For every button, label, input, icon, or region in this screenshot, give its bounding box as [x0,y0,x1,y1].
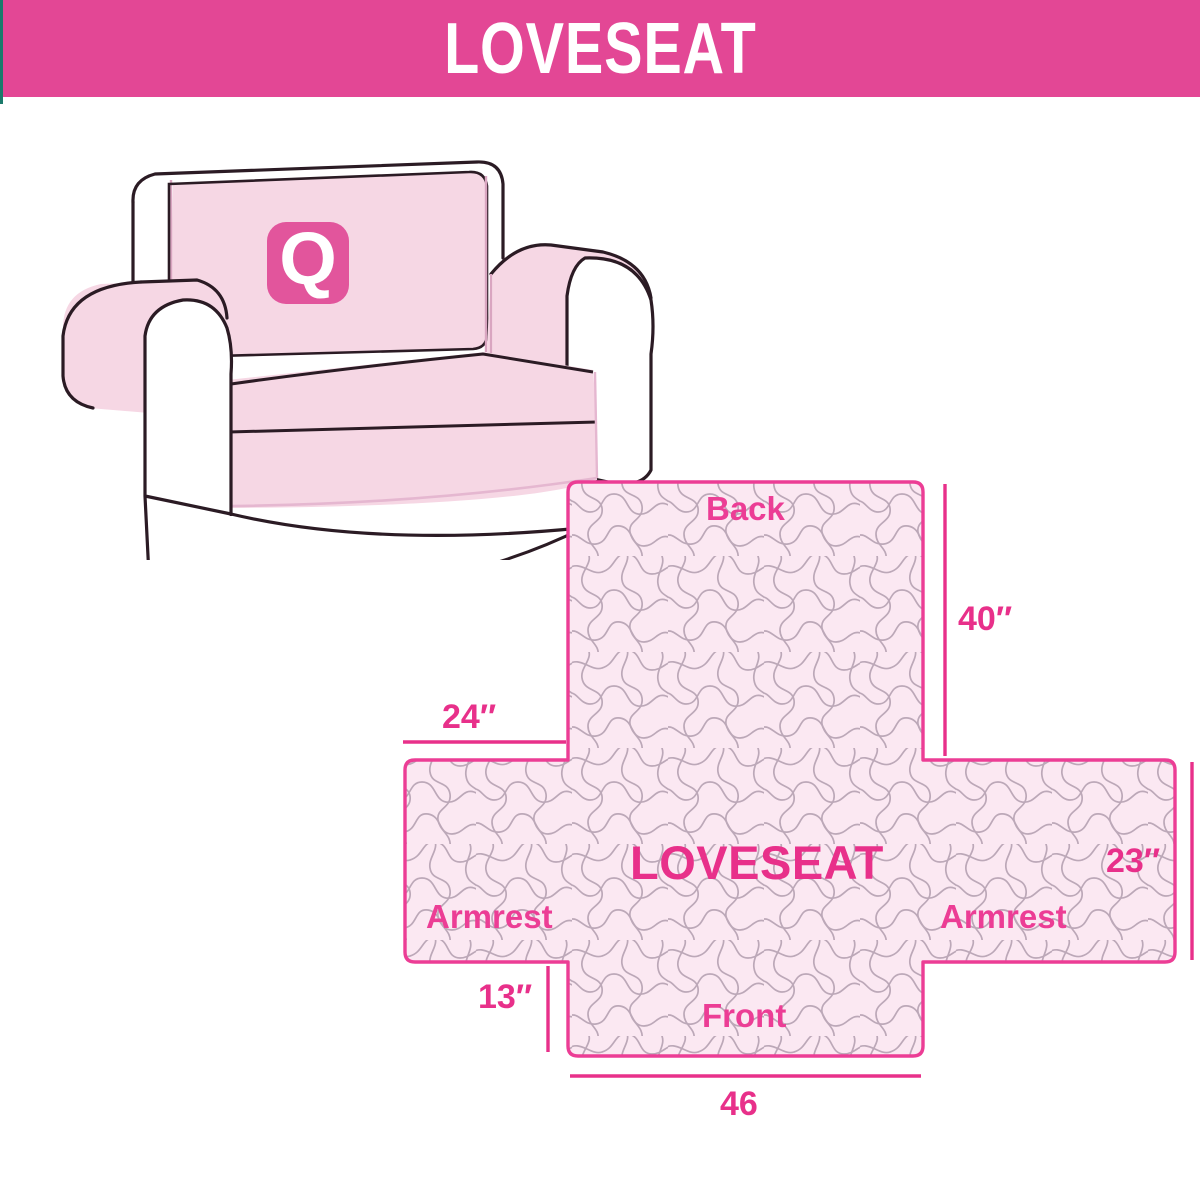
page-title: LOVESEAT [444,13,757,85]
panel-label-loveseat-center: LOVESEAT [630,835,884,890]
panel-label-front: Front [702,997,786,1035]
dim-label-front-drop: 13″ [478,978,532,1017]
dim-label-seat-depth: 23″ [1106,842,1160,881]
size-chart-page: LOVESEAT [0,0,1200,1200]
dim-label-back-height: 40″ [958,600,1012,639]
flat-pattern-diagram: Back Armrest Armrest Front LOVESEAT 40″ … [380,460,1200,1140]
left-edge-accent-bar [0,0,3,104]
panel-label-back: Back [706,490,785,528]
cover-panel-cross [405,482,1175,1056]
brand-logo-letter: Q [279,217,337,300]
dim-label-overall-width: 46 [720,1085,758,1124]
header-banner: LOVESEAT [0,0,1200,97]
dim-label-armrest-width: 24″ [442,698,496,737]
brand-logo-badge: Q [267,217,349,304]
panel-label-armrest-right: Armrest [940,898,1067,936]
sofa-left-arm-front-roll [145,300,232,514]
panel-label-armrest-left: Armrest [426,898,553,936]
